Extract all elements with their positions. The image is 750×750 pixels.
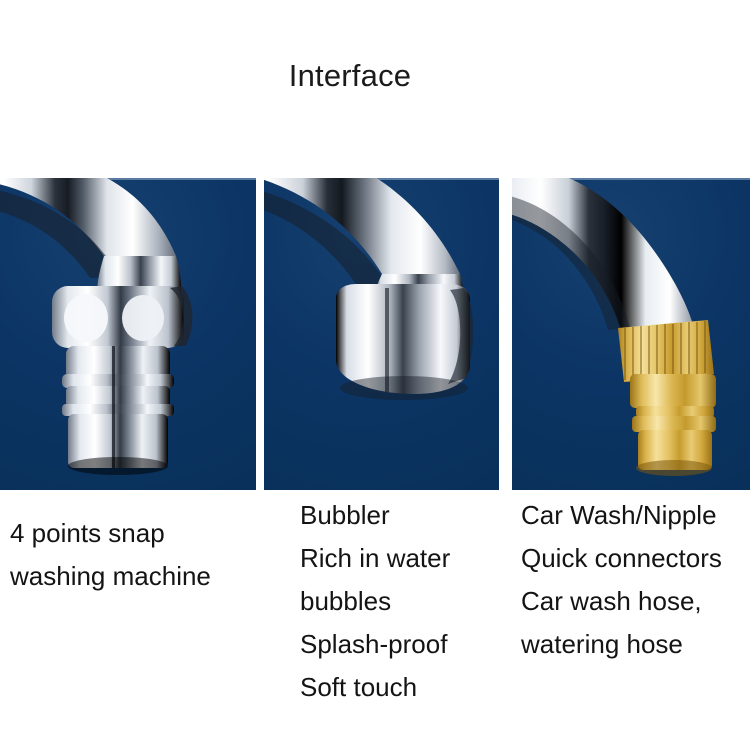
- caption-line: Soft touch: [300, 666, 510, 709]
- faucet-bubbler-illustration: [264, 178, 499, 490]
- caption-bubbler: Bubbler Rich in water bubbles Splash-pro…: [300, 494, 510, 709]
- caption-line: Car Wash/Nipple: [521, 494, 750, 537]
- product-image-panel-bubbler: [264, 178, 499, 490]
- caption-snap: 4 points snap washing machine: [10, 512, 260, 598]
- caption-line: washing machine: [10, 555, 260, 598]
- product-image-panel-snap: [0, 178, 256, 490]
- page-title: Interface: [0, 57, 700, 95]
- product-infographic: Interface: [0, 0, 750, 750]
- caption-strip: 4 points snap washing machine Bubbler Ri…: [0, 490, 750, 750]
- panel-strip: [0, 178, 750, 490]
- caption-line: Splash-proof: [300, 623, 510, 666]
- product-image-panel-nipple: [512, 178, 750, 490]
- faucet-snap-illustration: [0, 178, 256, 490]
- faucet-brass-nipple-illustration: [512, 178, 750, 490]
- caption-line: watering hose: [521, 623, 750, 666]
- caption-line: Quick connectors: [521, 537, 750, 580]
- caption-line: bubbles: [300, 580, 510, 623]
- caption-nipple: Car Wash/Nipple Quick connectors Car was…: [521, 494, 750, 666]
- caption-line: Bubbler: [300, 494, 510, 537]
- caption-line: Car wash hose,: [521, 580, 750, 623]
- caption-line: Rich in water: [300, 537, 510, 580]
- caption-line: 4 points snap: [10, 512, 260, 555]
